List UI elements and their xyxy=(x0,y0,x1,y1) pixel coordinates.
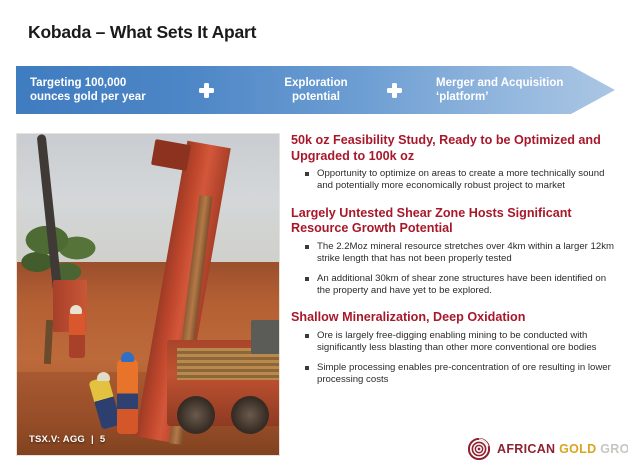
ticker-symbol: TSX.V: AGG xyxy=(29,434,85,445)
photo-worker-helmet xyxy=(97,372,110,381)
photo-worker-helmet xyxy=(121,352,134,362)
content-column: 50k oz Feasibility Study, Ready to be Op… xyxy=(291,133,615,387)
photo-truck-cab xyxy=(251,320,280,354)
section-heading-shear-zone: Largely Untested Shear Zone Hosts Signif… xyxy=(291,206,615,237)
logo-word-african: AFRICAN xyxy=(497,442,555,456)
plus-icon xyxy=(199,83,214,98)
banner-segment-exploration: Exploration potential xyxy=(256,66,376,114)
photo-worker xyxy=(69,312,85,358)
photo-worker-helmet xyxy=(70,305,82,314)
photo-worker xyxy=(117,360,138,434)
bullet-list-feasibility: Opportunity to optimize on areas to crea… xyxy=(291,168,615,193)
list-item: Opportunity to optimize on areas to crea… xyxy=(305,168,615,193)
list-item: Ore is largely free-digging enabling min… xyxy=(305,330,615,355)
logo-word-gold: GOLD xyxy=(559,442,596,456)
logo-wordmark: AFRICAN GOLD GROUP xyxy=(497,442,628,456)
spiral-ring-icon xyxy=(468,438,490,460)
photo-truck-wheel xyxy=(177,396,215,434)
value-proposition-banner: Targeting 100,000 ounces gold per year E… xyxy=(16,66,615,114)
logo-word-group: GROUP xyxy=(600,442,628,456)
banner-segment-merger-line1: Merger and Acquisition xyxy=(436,76,563,91)
banner-segment-exploration-line1: Exploration xyxy=(284,76,347,91)
list-item: Simple processing enables pre-concentrat… xyxy=(305,362,615,387)
section-heading-mineralization: Shallow Mineralization, Deep Oxidation xyxy=(291,310,615,326)
banner-segment-merger: Merger and Acquisition ‘platform’ xyxy=(436,66,621,114)
page-title: Kobada – What Sets It Apart xyxy=(28,22,256,43)
banner-segment-targeting-line2: ounces gold per year xyxy=(30,90,146,105)
banner-segment-merger-line2: ‘platform’ xyxy=(436,90,563,105)
page-number: 5 xyxy=(100,434,105,445)
site-photo: TSX.V: AGG|5 xyxy=(16,133,280,456)
caption-separator: | xyxy=(85,434,100,445)
photo-caption: TSX.V: AGG|5 xyxy=(29,434,105,445)
slide: Kobada – What Sets It Apart Targeting 10… xyxy=(0,0,628,471)
banner-segment-exploration-line2: potential xyxy=(284,90,347,105)
list-item: An additional 30km of shear zone structu… xyxy=(305,273,615,298)
bullet-list-shear-zone: The 2.2Moz mineral resource stretches ov… xyxy=(291,241,615,298)
photo-truck-wheel xyxy=(231,396,269,434)
list-item: The 2.2Moz mineral resource stretches ov… xyxy=(305,241,615,266)
plus-icon xyxy=(387,83,402,98)
section-heading-feasibility: 50k oz Feasibility Study, Ready to be Op… xyxy=(291,133,615,164)
company-logo: AFRICAN GOLD GROUP xyxy=(468,437,628,461)
banner-segment-targeting-line1: Targeting 100,000 xyxy=(30,76,146,91)
bullet-list-mineralization: Ore is largely free-digging enabling min… xyxy=(291,330,615,387)
banner-segment-targeting: Targeting 100,000 ounces gold per year xyxy=(30,66,190,114)
